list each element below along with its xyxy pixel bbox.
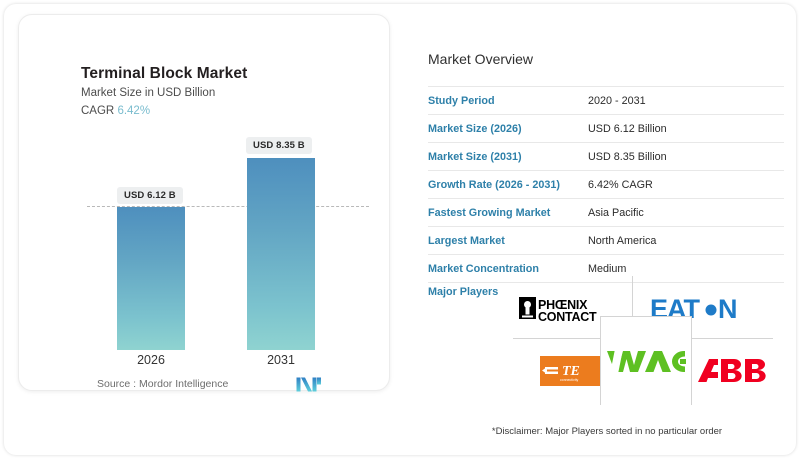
source-text: Source : Mordor Intelligence [97,378,228,390]
player-logo-wago-cell [600,316,692,405]
major-players-logo-grid: PHŒNIX CONTACT EAT N TE [513,276,773,404]
table-row: Largest Market North America [428,227,784,255]
row-value: 2020 - 2031 [588,95,646,107]
bar-value-label-2026: USD 6.12 B [117,187,183,204]
x-axis-label-2031: 2031 [247,353,315,367]
abb-logo [696,356,770,386]
market-overview-panel: Market Overview Study Period 2020 - 2031… [428,4,790,455]
table-row: Study Period 2020 - 2031 [428,86,784,115]
x-axis-label-2026: 2026 [117,353,185,367]
row-key: Market Size (2031) [428,151,588,163]
table-row: Fastest Growing Market Asia Pacific [428,199,784,227]
player-logo-abb [693,348,773,394]
row-key: Fastest Growing Market [428,207,588,219]
row-value: USD 8.35 Billion [588,151,667,163]
bar-value-label-2031: USD 8.35 B [246,137,312,154]
bar-2026 [117,207,185,350]
row-key: Study Period [428,95,588,107]
row-key: Market Size (2026) [428,123,588,135]
svg-text:CONTACT: CONTACT [538,310,597,324]
infographic-frame: Terminal Block Market Market Size in USD… [4,4,796,455]
svg-text:TE: TE [562,364,580,379]
row-key: Market Concentration [428,263,588,275]
table-row: Market Size (2031) USD 8.35 Billion [428,143,784,171]
table-row: Growth Rate (2026 - 2031) 6.42% CAGR [428,171,784,199]
mordor-intelligence-logo [296,376,322,393]
row-value: North America [588,235,656,247]
row-key: Growth Rate (2026 - 2031) [428,179,588,191]
overview-title: Market Overview [428,51,533,67]
row-value: USD 6.12 Billion [588,123,667,135]
table-row: Market Size (2026) USD 6.12 Billion [428,115,784,143]
wago-logo [606,348,686,374]
disclaimer-text: *Disclaimer: Major Players sorted in no … [429,426,785,437]
bar-2031 [247,158,315,350]
major-players-label: Major Players [428,286,498,298]
row-key: Largest Market [428,235,588,247]
row-value: Medium [588,263,626,275]
svg-text:connectivity: connectivity [560,378,579,382]
bar-chart-plot: USD 6.12 B USD 8.35 B 2026 2031 [19,15,389,390]
row-value: 6.42% CAGR [588,179,653,191]
row-value: Asia Pacific [588,207,644,219]
chart-card: Terminal Block Market Market Size in USD… [18,14,390,391]
te-connectivity-logo: TE connectivity [540,356,602,386]
overview-table: Study Period 2020 - 2031 Market Size (20… [428,86,784,283]
svg-text:N: N [718,294,737,324]
